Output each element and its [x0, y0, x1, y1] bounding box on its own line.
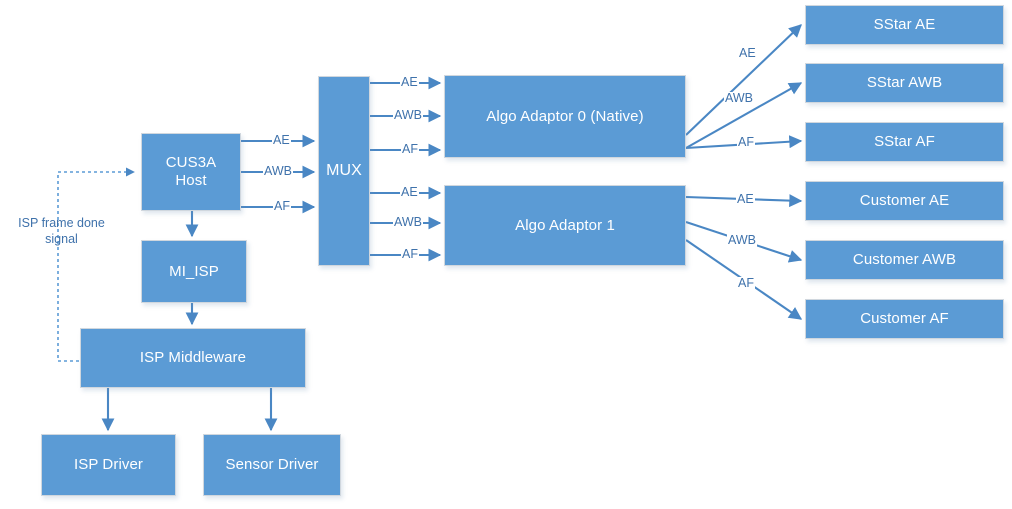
- node-cus3a-host[interactable]: CUS3A Host: [141, 133, 241, 211]
- edge-label-host-mux-ae: AE: [272, 134, 291, 147]
- edge-label-mux-a1-awb: AWB: [393, 216, 423, 229]
- sensor-driver-label: Sensor Driver: [226, 456, 319, 474]
- edge-a0-sstar-ae: [686, 25, 801, 135]
- node-sstar-af[interactable]: SStar AF: [805, 122, 1004, 162]
- node-isp-middleware[interactable]: ISP Middleware: [80, 328, 306, 388]
- note-isp-frame-done-signal: ISP frame done signal: [4, 216, 119, 247]
- cus3a-host-label-line1: CUS3A: [166, 154, 217, 171]
- customer-awb-label: Customer AWB: [853, 251, 956, 269]
- isp-driver-label: ISP Driver: [74, 456, 143, 474]
- edge-label-mux-a1-ae: AE: [400, 186, 419, 199]
- edge-label-mux-a0-ae: AE: [400, 76, 419, 89]
- node-algo-adaptor-0[interactable]: Algo Adaptor 0 (Native): [444, 75, 686, 158]
- algo-adaptor-1-label: Algo Adaptor 1: [515, 217, 615, 235]
- mi-isp-label: MI_ISP: [169, 263, 219, 281]
- edge-label-host-mux-awb: AWB: [263, 165, 293, 178]
- edge-label-a0-sstar-ae: AE: [738, 47, 757, 60]
- customer-af-label: Customer AF: [860, 310, 949, 328]
- edge-label-a0-sstar-awb: AWB: [724, 92, 754, 105]
- node-customer-af[interactable]: Customer AF: [805, 299, 1004, 339]
- isp-middleware-label: ISP Middleware: [140, 349, 246, 367]
- node-sensor-driver[interactable]: Sensor Driver: [203, 434, 341, 496]
- cus3a-host-label-line2: Host: [175, 172, 206, 189]
- edge-label-mux-a0-awb: AWB: [393, 109, 423, 122]
- sstar-af-label: SStar AF: [874, 133, 935, 151]
- edge-label-a0-sstar-af: AF: [737, 136, 755, 149]
- edge-label-a1-customer-awb: AWB: [727, 234, 757, 247]
- node-mux[interactable]: MUX: [318, 76, 370, 266]
- node-algo-adaptor-1[interactable]: Algo Adaptor 1: [444, 185, 686, 266]
- mux-label: MUX: [326, 162, 362, 181]
- edge-label-mux-a1-af: AF: [401, 248, 419, 261]
- algo-adaptor-0-label: Algo Adaptor 0 (Native): [486, 108, 643, 126]
- sstar-ae-label: SStar AE: [874, 16, 936, 34]
- diagram-canvas: CUS3A Host MI_ISP ISP Middleware ISP Dri…: [0, 0, 1012, 509]
- edge-label-a1-customer-ae: AE: [736, 193, 755, 206]
- node-customer-ae[interactable]: Customer AE: [805, 181, 1004, 221]
- sstar-awb-label: SStar AWB: [867, 74, 942, 92]
- node-sstar-awb[interactable]: SStar AWB: [805, 63, 1004, 103]
- edge-label-host-mux-af: AF: [273, 200, 291, 213]
- node-isp-driver[interactable]: ISP Driver: [41, 434, 176, 496]
- edge-label-a1-customer-af: AF: [737, 277, 755, 290]
- node-sstar-ae[interactable]: SStar AE: [805, 5, 1004, 45]
- node-customer-awb[interactable]: Customer AWB: [805, 240, 1004, 280]
- customer-ae-label: Customer AE: [860, 192, 949, 210]
- node-mi-isp[interactable]: MI_ISP: [141, 240, 247, 303]
- edge-label-mux-a0-af: AF: [401, 143, 419, 156]
